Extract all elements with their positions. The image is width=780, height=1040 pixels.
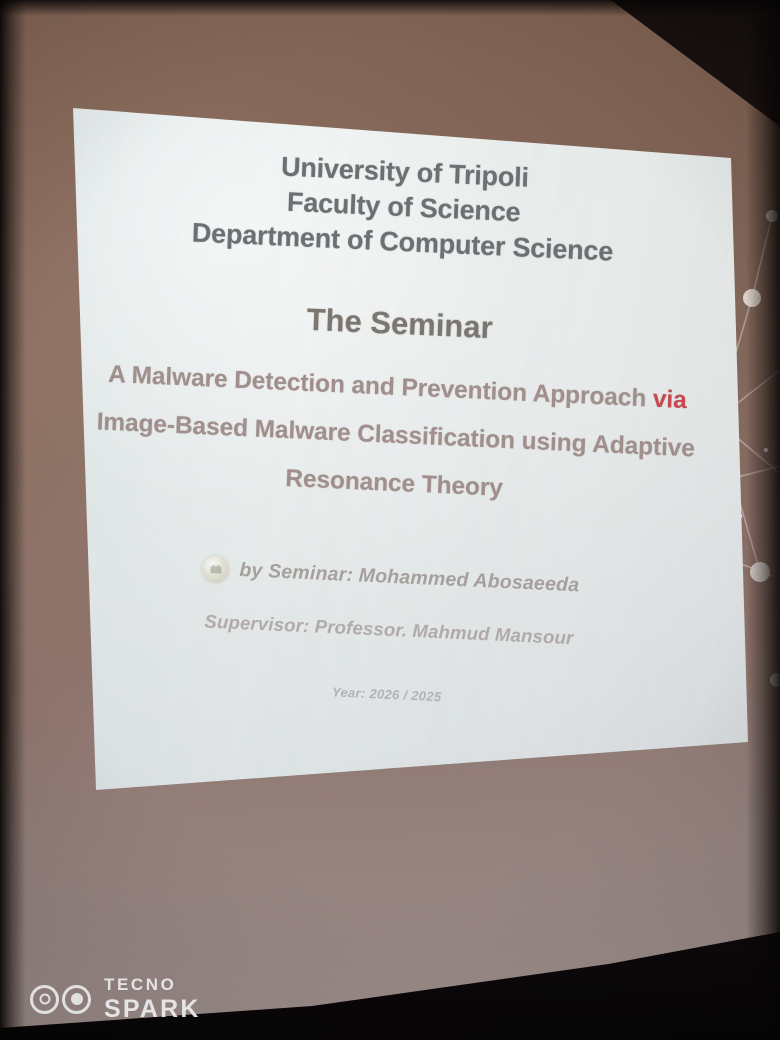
supervisor-name: Supervisor: Professor. Mahmud Mansour	[55, 603, 723, 655]
subtitle-accent-word: via	[652, 386, 687, 415]
left-vignette	[0, 0, 26, 1040]
slide-content: University of Tripoli Faculty of Science…	[50, 108, 740, 798]
slide-title: The Seminar	[65, 291, 734, 357]
watermark-model: SPARK	[104, 997, 201, 1022]
watermark-text: TECNO SPARK	[104, 976, 201, 1022]
camera-lens-ring-icon	[30, 985, 59, 1014]
photograph: University of Tripoli Faculty of Science…	[0, 0, 780, 1040]
university-emblem-icon	[202, 555, 230, 583]
camera-lens-dot-icon	[62, 985, 91, 1014]
institution-heading: University of Tripoli Faculty of Science…	[68, 140, 739, 276]
watermark-brand: TECNO	[104, 976, 201, 993]
presenter-row: by Seminar: Mohammed Abosaeeda	[57, 548, 725, 605]
top-vignette	[0, 0, 780, 16]
presenter-name: by Seminar: Mohammed Abosaeeda	[239, 559, 580, 597]
right-vignette	[746, 0, 780, 1040]
slide-subtitle: A Malware Detection and Prevention Appro…	[60, 349, 732, 523]
academic-year: Year: 2026 / 2025	[53, 671, 721, 716]
camera-watermark: TECNO SPARK	[30, 976, 201, 1022]
dual-camera-lens-icon	[30, 985, 91, 1014]
